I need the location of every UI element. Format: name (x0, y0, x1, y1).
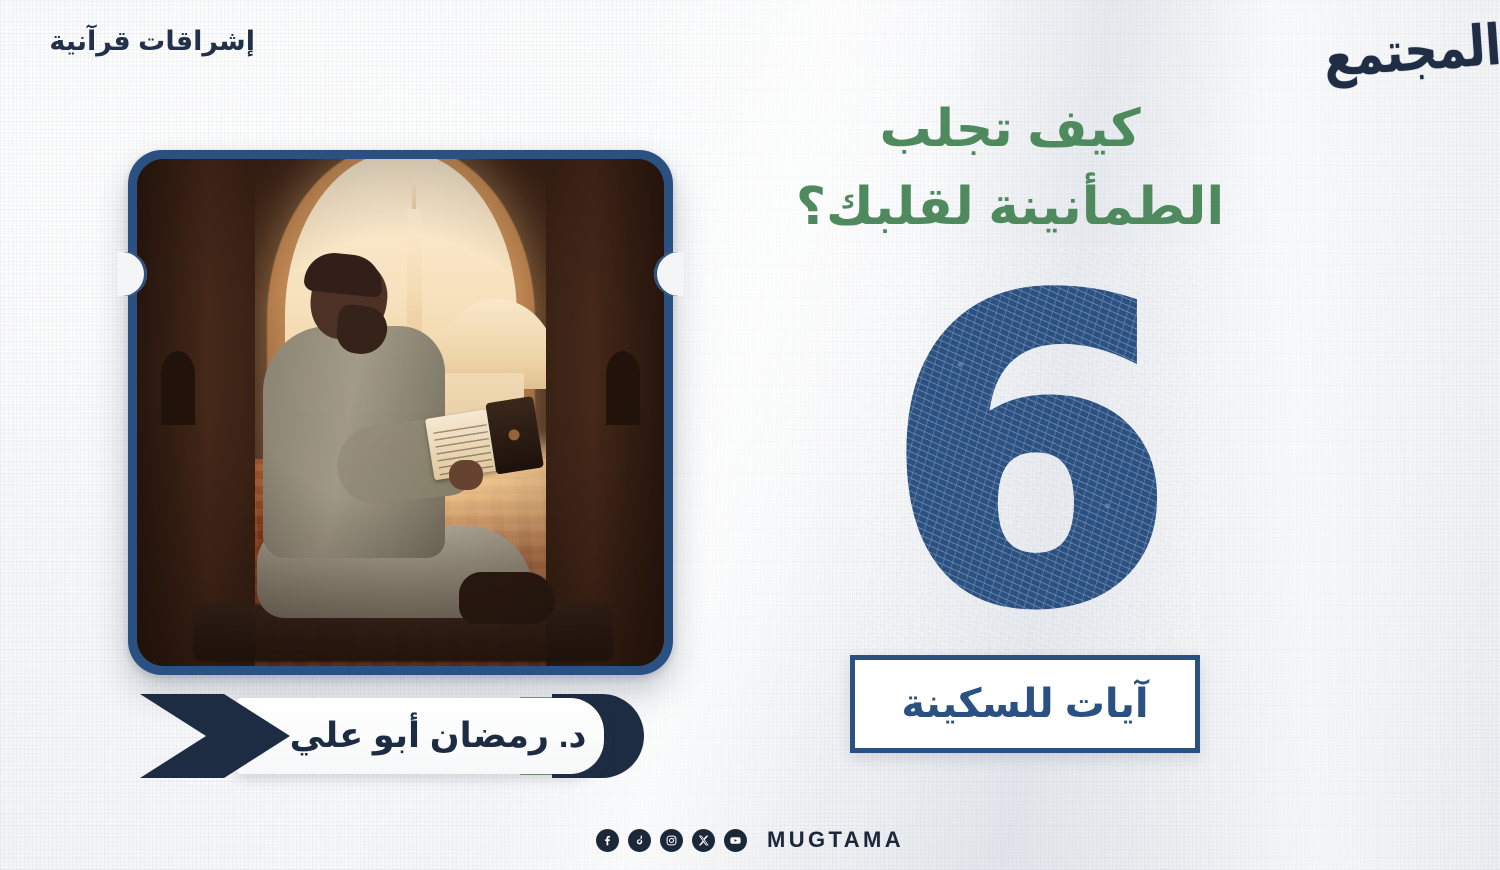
mugtama-calligraphy-icon: المجتمع (1321, 18, 1500, 86)
author-ribbon: د. رمضان أبو علي (140, 692, 640, 780)
big-number-value: 6 (884, 288, 1176, 624)
youtube-icon[interactable] (724, 829, 747, 852)
alcove-left (161, 351, 195, 425)
pillar-right (546, 159, 664, 666)
alcove-right (606, 351, 640, 425)
x-twitter-icon[interactable] (692, 829, 715, 852)
footer-wordmark: MUGTAMA (767, 827, 904, 853)
boxed-label-text: آيات للسكينة (901, 681, 1148, 727)
poster-canvas: إشراقات قرآنية المجتمع (0, 0, 1500, 870)
footer-bar: MUGTAMA (0, 820, 1500, 860)
instagram-icon[interactable] (660, 829, 683, 852)
facebook-icon[interactable] (596, 829, 619, 852)
man-foot (459, 572, 555, 624)
author-name: د. رمضان أبو علي (290, 698, 586, 774)
man-hair (303, 250, 385, 298)
photo-card (128, 150, 673, 675)
mugtama-logo[interactable]: المجتمع (1352, 8, 1472, 96)
boxed-label: آيات للسكينة (850, 655, 1200, 753)
headline-line-1: كيف تجلب (700, 96, 1320, 164)
kicker-label: إشراقات قرآنية (49, 26, 255, 57)
quran-reader-photo (137, 159, 664, 666)
mosque-scene (137, 159, 664, 666)
book-cover (485, 396, 544, 475)
man-hand (449, 460, 483, 490)
seated-man (233, 254, 563, 644)
tiktok-icon[interactable] (628, 829, 651, 852)
big-number: 6 (860, 272, 1200, 640)
